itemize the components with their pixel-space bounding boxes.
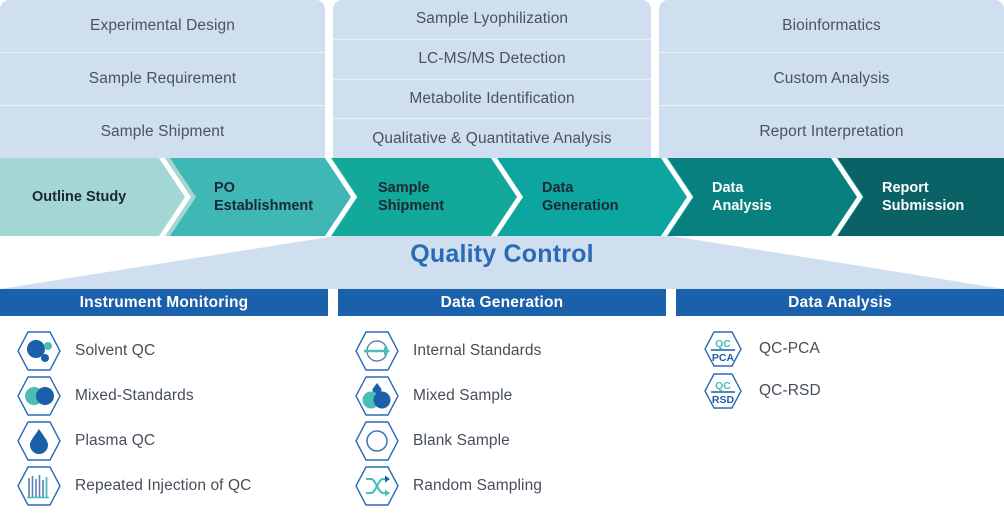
qc-item-label: Internal Standards [413,342,541,360]
qc-rsd-icon: QC RSD [700,369,746,413]
card-cell: Metabolite Identification [333,79,651,119]
qc-list-item: QC PCA QC-PCA [676,328,1004,370]
card-cell: Sample Lyophilization [333,0,651,39]
qc-column-data-analysis: Data Analysis QC PCA QC-PCA [676,289,1004,510]
card-group-study-setup: Experimental Design Sample Requirement S… [0,0,325,158]
card-group-delivery: Bioinformatics Custom Analysis Report In… [659,0,1004,158]
card-cell: LC-MS/MS Detection [333,39,651,79]
workflow-step-5[interactable]: Data Analysis [664,158,864,236]
random-sampling-shuffle-icon [354,464,400,508]
qc-item-label: Mixed-Standards [75,387,194,405]
qc-item-label: Random Sampling [413,477,542,495]
qc-column-header: Data Analysis [676,289,1004,316]
workflow-diagram: Experimental Design Sample Requirement S… [0,0,1004,510]
qc-column-data-generation: Data Generation Internal Standards [338,289,666,510]
qc-item-label: Solvent QC [75,342,155,360]
plasma-qc-droplet-icon [16,419,62,463]
card-cell: Sample Requirement [0,52,325,105]
svg-text:QC: QC [715,338,731,350]
mixed-standards-icon [16,374,62,418]
qc-item-label: QC-PCA [759,340,820,358]
qc-list-item: Mixed Sample [338,373,666,418]
mixed-sample-icon [354,374,400,418]
qc-list-item: Internal Standards [338,328,666,373]
svg-text:PCA: PCA [712,352,735,364]
card-cell: Report Interpretation [659,105,1004,158]
qc-item-list: QC PCA QC-PCA QC RSD [676,316,1004,412]
card-cell: Bioinformatics [659,0,1004,52]
qc-list-item: Random Sampling [338,463,666,508]
qc-list-item: Mixed-Standards [0,373,328,418]
qc-column-instrument-monitoring: Instrument Monitoring Solvent QC [0,289,328,510]
card-cell: Qualitative & Quantitative Analysis [333,118,651,158]
qc-item-label: Blank Sample [413,432,510,450]
workflow-step-label: Report Submission [882,179,964,215]
qc-item-list: Internal Standards Mixed Sample [338,316,666,508]
svg-text:RSD: RSD [712,394,735,406]
card-cell: Experimental Design [0,0,325,52]
blank-sample-circle-icon [354,419,400,463]
workflow-step-label: Data Analysis [712,179,772,215]
quality-control-title: Quality Control [0,240,1004,269]
qc-list-item: Blank Sample [338,418,666,463]
workflow-step-chevrons: Report SubmissionData AnalysisData Gener… [0,158,1004,236]
workflow-card-groups: Experimental Design Sample Requirement S… [0,0,1004,158]
qc-item-label: QC-RSD [759,382,821,400]
svg-text:QC: QC [715,380,731,392]
card-cell: Custom Analysis [659,52,1004,105]
qc-item-label: Plasma QC [75,432,155,450]
workflow-step-4[interactable]: Data Generation [494,158,694,236]
qc-item-list: Solvent QC Mixed-Standards [0,316,328,508]
workflow-step-label: Sample Shipment [378,179,444,215]
solvent-qc-icon [16,329,62,373]
qc-pca-icon: QC PCA [700,327,746,371]
workflow-step-label: Outline Study [32,188,126,206]
qc-item-label: Repeated Injection of QC [75,477,251,495]
workflow-step-label: Data Generation [542,179,619,215]
qc-item-label: Mixed Sample [413,387,512,405]
repeated-injection-icon [16,464,62,508]
qc-list-item: QC RSD QC-RSD [676,370,1004,412]
card-group-lab-analysis: Sample Lyophilization LC-MS/MS Detection… [333,0,651,158]
quality-control-columns: Instrument Monitoring Solvent QC [0,289,1004,510]
qc-list-item: Solvent QC [0,328,328,373]
internal-standards-arrow-icon [354,329,400,373]
card-cell: Sample Shipment [0,105,325,158]
qc-column-header: Instrument Monitoring [0,289,328,316]
workflow-step-label: PO Establishment [214,179,313,215]
qc-column-header: Data Generation [338,289,666,316]
qc-list-item: Plasma QC [0,418,328,463]
qc-list-item: Repeated Injection of QC [0,463,328,508]
workflow-step-1[interactable]: Outline Study [0,158,196,236]
